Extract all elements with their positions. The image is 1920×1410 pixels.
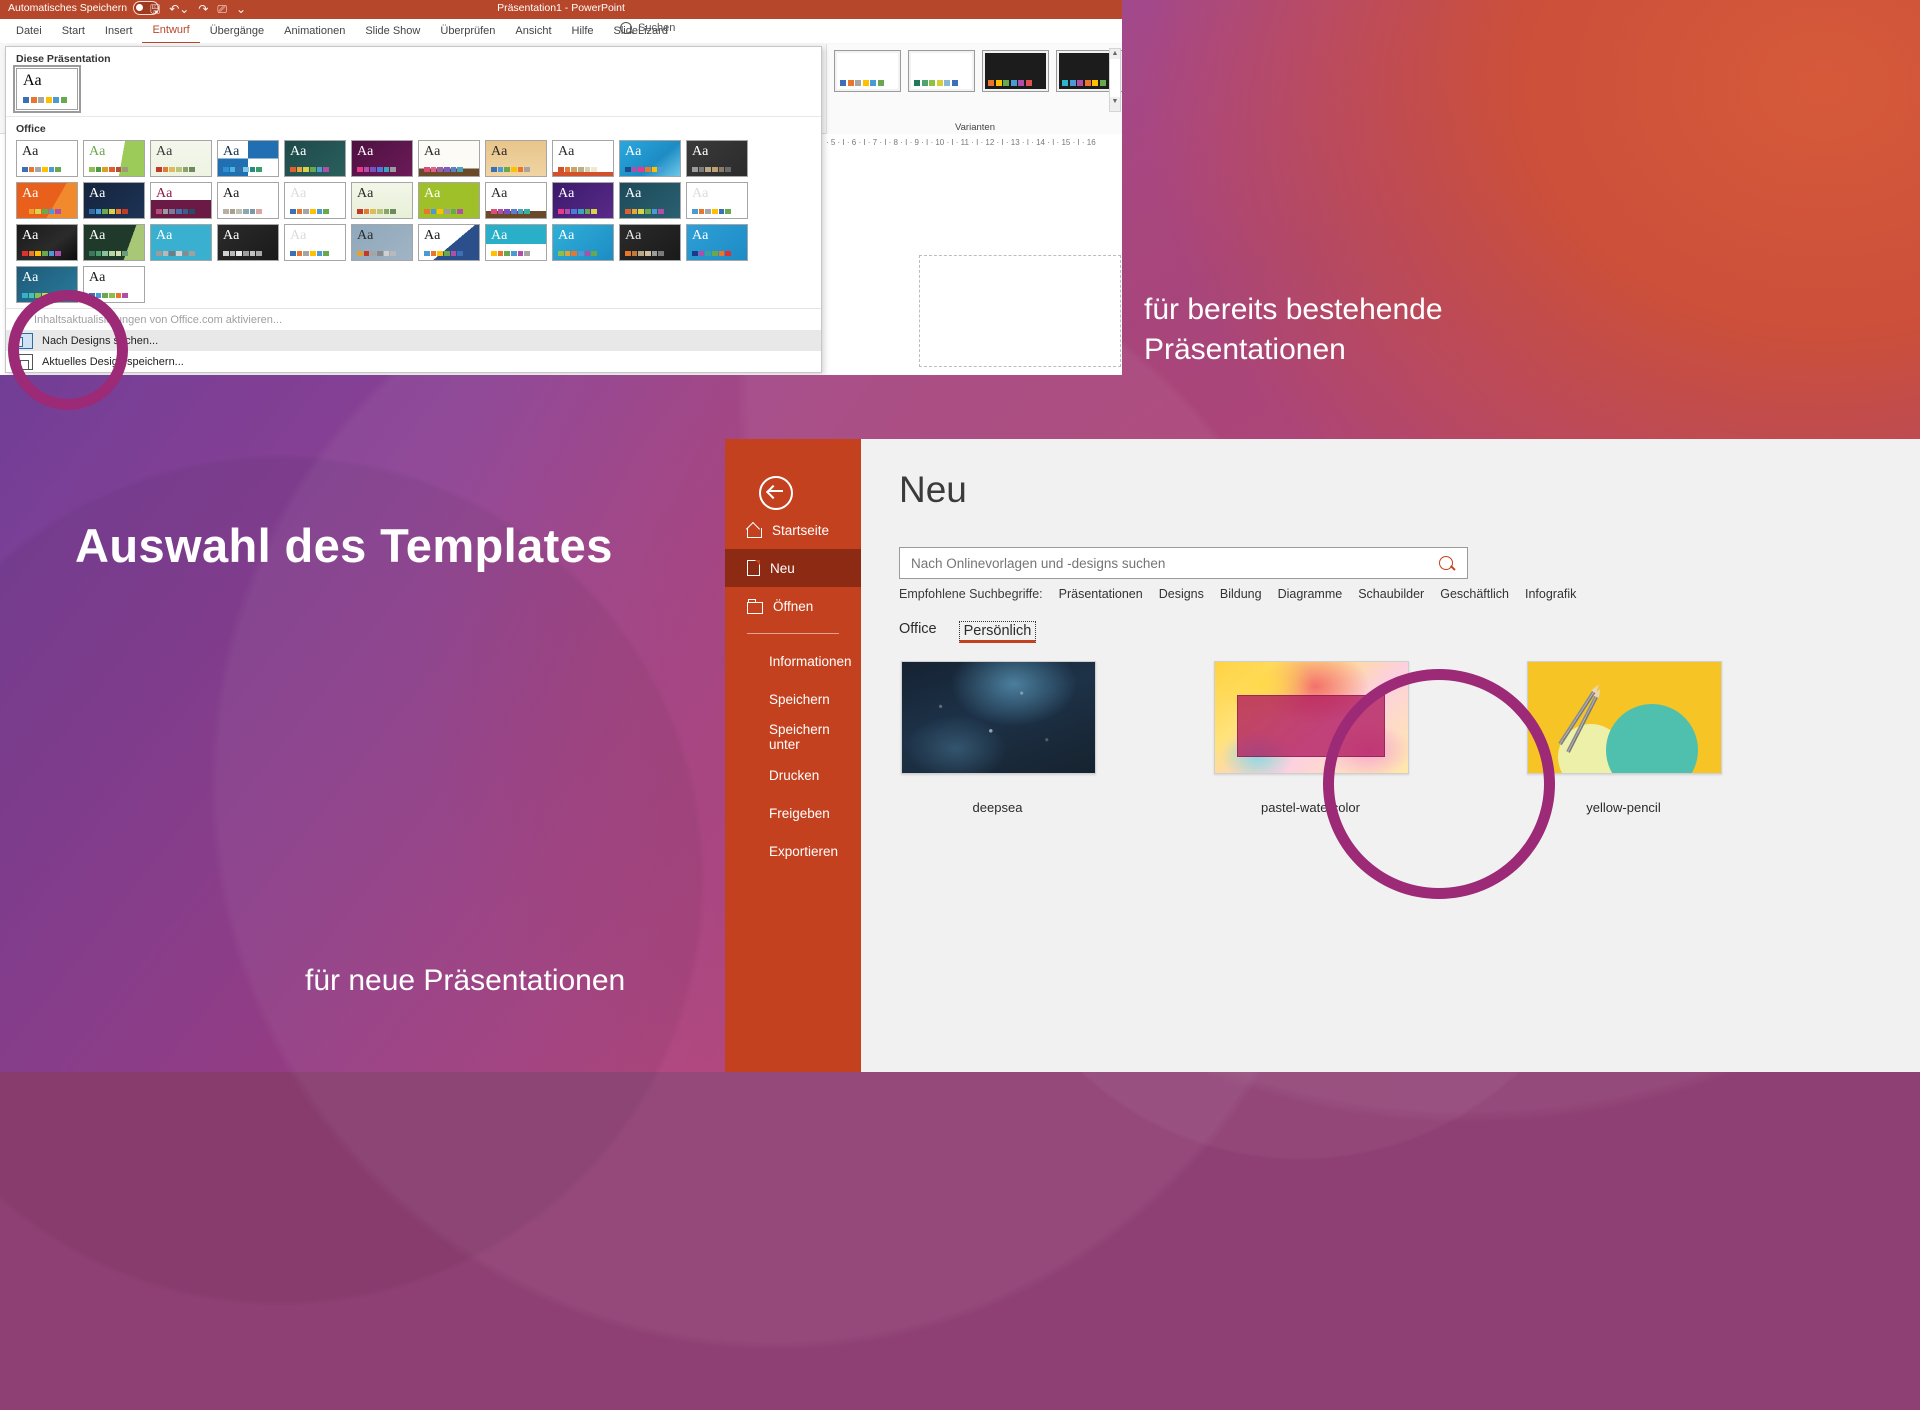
current-theme-thumbnail[interactable]: Aa (16, 68, 78, 110)
theme-aa-label: Aa (22, 143, 38, 161)
backstage-nav-speichern[interactable]: Speichern (725, 680, 861, 718)
theme-thumbnail[interactable]: Aa (686, 224, 748, 261)
current-theme-row: Aa (6, 68, 821, 116)
annotation-circle-browse-themes (8, 290, 128, 410)
theme-thumbnail[interactable]: Aa (418, 140, 480, 177)
ribbon-tab-insert[interactable]: Insert (95, 19, 143, 43)
theme-palette (23, 97, 67, 103)
theme-palette (558, 209, 597, 215)
variant-palette (914, 80, 958, 86)
theme-palette (156, 251, 195, 257)
theme-aa-label: Aa (491, 185, 507, 203)
page-title: Neu (899, 469, 967, 511)
ribbon-tab-datei[interactable]: Datei (6, 19, 52, 43)
theme-aa-label: Aa (357, 185, 373, 203)
backstage-nav-label: Speichern unter (769, 722, 861, 752)
theme-palette (625, 209, 664, 215)
theme-palette (223, 167, 262, 173)
theme-palette (558, 167, 597, 173)
variant-thumbnail[interactable] (908, 50, 975, 92)
theme-thumbnail[interactable]: Aa (83, 182, 145, 219)
design-menu-item-enable-content-updates: Inhaltsaktualisierungen von Office.com a… (6, 309, 821, 330)
theme-palette (89, 251, 128, 257)
theme-aa-label: Aa (424, 227, 440, 245)
backstage-nav-label: Startseite (772, 523, 829, 538)
backstage-navigation: StartseiteNeuÖffnenInformationenSpeicher… (725, 439, 861, 1072)
theme-palette (692, 167, 731, 173)
backstage-nav-drucken[interactable]: Drucken (725, 756, 861, 794)
open-folder-icon (747, 602, 763, 614)
scroll-up-arrow[interactable]: ▲ (1110, 49, 1120, 59)
backstage-nav-neu[interactable]: Neu (725, 549, 861, 587)
template-source-tab-personlich[interactable]: Persönlich (959, 621, 1037, 643)
back-arrow-icon[interactable] (759, 476, 793, 510)
ribbon-tab-bar: DateiStartInsertEntwurfÜbergängeAnimatio… (0, 19, 1122, 44)
theme-thumbnail[interactable]: Aa (217, 182, 279, 219)
theme-palette (692, 251, 731, 257)
backstage-new-panel: StartseiteNeuÖffnenInformationenSpeicher… (725, 439, 1920, 1072)
variants-label: Varianten (827, 122, 1122, 133)
theme-palette (223, 209, 262, 215)
variants-scrollbar[interactable]: ▲ ▼ (1109, 48, 1121, 112)
theme-thumbnail[interactable]: Aa (217, 140, 279, 177)
backstage-nav-label: Neu (770, 561, 795, 576)
theme-thumbnail[interactable]: Aa (619, 182, 681, 219)
design-gallery-dropdown[interactable]: Diese Präsentation Aa Office AaAaAaAaAaA… (5, 46, 822, 373)
theme-aa-label: Aa (223, 227, 239, 245)
ribbon-tab-überprüfen[interactable]: Überprüfen (430, 19, 505, 43)
template-thumbnail[interactable] (1527, 661, 1722, 774)
theme-aa-label: Aa (692, 185, 708, 203)
theme-aa-label: Aa (625, 227, 641, 245)
headline-title: Auswahl des Templates (75, 518, 613, 573)
theme-palette (290, 167, 329, 173)
theme-aa-label: Aa (357, 143, 373, 161)
theme-palette (223, 251, 262, 257)
content-placeholder[interactable] (919, 255, 1121, 367)
theme-thumbnail[interactable]: Aa (83, 224, 145, 261)
variant-palette (988, 80, 1032, 86)
theme-thumbnail[interactable]: Aa (552, 140, 614, 177)
theme-thumbnail[interactable]: Aa (284, 140, 346, 177)
theme-thumbnail[interactable]: Aa (418, 182, 480, 219)
window-title: Präsentation1 - PowerPoint (0, 2, 1122, 14)
backstage-nav-label: Informationen (769, 654, 852, 669)
office-theme-grid: AaAaAaAaAaAaAaAaAaAaAaAaAaAaAaAaAaAaAaAa… (6, 138, 811, 307)
theme-palette (424, 209, 463, 215)
theme-thumbnail[interactable]: Aa (485, 224, 547, 261)
caption-existing-presentations: für bereits bestehende Präsentationen (1144, 290, 1574, 370)
theme-palette (625, 251, 664, 257)
suggested-search-bildung[interactable]: Bildung (1220, 587, 1262, 601)
variants-row (827, 44, 1122, 92)
theme-aa-label: Aa (692, 227, 708, 245)
theme-aa-label: Aa (89, 185, 105, 203)
theme-aa-label: Aa (89, 143, 105, 161)
theme-aa-label: Aa (89, 227, 105, 245)
theme-thumbnail[interactable]: Aa (485, 140, 547, 177)
theme-aa-label: Aa (89, 269, 105, 287)
ribbon-search-label: Suchen (638, 22, 675, 34)
scroll-thumb[interactable] (1110, 59, 1120, 97)
home-icon (747, 523, 762, 538)
theme-palette (290, 251, 329, 257)
theme-aa-label: Aa (22, 185, 38, 203)
suggested-search-schaubilder[interactable]: Schaubilder (1358, 587, 1424, 601)
theme-aa-label: Aa (357, 227, 373, 245)
search-icon[interactable] (1439, 556, 1453, 570)
theme-thumbnail[interactable]: Aa (552, 224, 614, 261)
backstage-nav-freigeben[interactable]: Freigeben (725, 794, 861, 832)
theme-aa-label: Aa (558, 143, 574, 161)
backstage-nav-speichern-unter[interactable]: Speichern unter (725, 718, 861, 756)
backstage-nav-startseite[interactable]: Startseite (725, 511, 861, 549)
theme-palette (89, 167, 128, 173)
theme-thumbnail[interactable]: Aa (619, 140, 681, 177)
backstage-nav-label: Speichern (769, 692, 830, 707)
template-thumbnail[interactable] (901, 661, 1096, 774)
suggested-search-geschaftlich[interactable]: Geschäftlich (1440, 587, 1509, 601)
theme-palette (491, 251, 530, 257)
slide-sheet[interactable] (826, 150, 1122, 375)
theme-palette (156, 209, 195, 215)
theme-thumbnail[interactable]: Aa (485, 182, 547, 219)
theme-aa-label: Aa (156, 227, 172, 245)
ribbon-tab-start[interactable]: Start (52, 19, 95, 43)
theme-thumbnail[interactable]: Aa (351, 140, 413, 177)
theme-aa-label: Aa (625, 185, 641, 203)
theme-palette (625, 167, 664, 173)
template-search-input[interactable] (909, 555, 1433, 572)
theme-thumbnail[interactable]: Aa (16, 182, 78, 219)
template-card-yellow-pencil[interactable]: yellow-pencil (1527, 661, 1720, 815)
theme-thumbnail[interactable]: Aa (83, 140, 145, 177)
powerpoint-window: Automatisches Speichern 🖫 ↶⌄ ↷ ⎚ ⌄ Präse… (0, 0, 1122, 375)
theme-aa-label: Aa (625, 143, 641, 161)
theme-aa-label: Aa (223, 185, 239, 203)
ribbon-tab-hilfe[interactable]: Hilfe (562, 19, 604, 43)
template-name: deepsea (901, 800, 1094, 815)
suggested-search-designs[interactable]: Designs (1159, 587, 1204, 601)
theme-thumbnail[interactable]: Aa (351, 182, 413, 219)
theme-aa-label: Aa (558, 185, 574, 203)
theme-thumbnail[interactable]: Aa (686, 182, 748, 219)
theme-palette (22, 167, 61, 173)
theme-palette (357, 251, 396, 257)
backstage-nav-exportieren[interactable]: Exportieren (725, 832, 861, 870)
nav-divider (747, 633, 839, 634)
theme-thumbnail[interactable]: Aa (16, 140, 78, 177)
caption-new-presentations: für neue Präsentationen (305, 964, 625, 998)
design-gallery-footer: Inhaltsaktualisierungen von Office.com a… (6, 308, 821, 372)
ribbon-tab-ansicht[interactable]: Ansicht (505, 19, 561, 43)
backstage-nav-items: StartseiteNeuÖffnenInformationenSpeicher… (725, 511, 861, 870)
theme-palette (558, 251, 597, 257)
backstage-nav-label: Öffnen (773, 599, 813, 614)
theme-palette (491, 167, 530, 173)
theme-aa-label: Aa (558, 227, 574, 245)
backstage-nav-label: Exportieren (769, 844, 838, 859)
theme-palette (424, 251, 463, 257)
theme-aa-label: Aa (23, 72, 42, 90)
ribbon-tab-übergänge[interactable]: Übergänge (200, 19, 274, 43)
section-label-this-presentation: Diese Präsentation (6, 47, 821, 68)
theme-aa-label: Aa (491, 143, 507, 161)
template-list: deepseapastel-watercoloryellow-pencil (901, 661, 1720, 815)
variant-thumbnail[interactable] (982, 50, 1049, 92)
section-label-office: Office (6, 117, 821, 138)
theme-aa-label: Aa (156, 185, 172, 203)
suggested-search-prasentationen[interactable]: Präsentationen (1059, 587, 1143, 601)
theme-thumbnail[interactable]: Aa (284, 182, 346, 219)
theme-aa-label: Aa (692, 143, 708, 161)
new-document-icon (747, 560, 760, 576)
theme-aa-label: Aa (491, 227, 507, 245)
theme-thumbnail[interactable]: Aa (150, 224, 212, 261)
office-themes-section: Office AaAaAaAaAaAaAaAaAaAaAaAaAaAaAaAaA… (6, 116, 821, 307)
theme-palette (357, 167, 396, 173)
theme-thumbnail[interactable]: Aa (686, 140, 748, 177)
backstage-nav-label: Freigeben (769, 806, 830, 821)
theme-palette (692, 209, 731, 215)
theme-palette (290, 209, 329, 215)
theme-palette (424, 167, 463, 173)
theme-palette (491, 209, 530, 215)
annotation-circle-yellow-pencil (1323, 669, 1555, 899)
theme-palette (22, 209, 61, 215)
theme-aa-label: Aa (223, 143, 239, 161)
backstage-nav-offnen[interactable]: Öffnen (725, 587, 861, 625)
suggested-search-diagramme[interactable]: Diagramme (1278, 587, 1343, 601)
theme-aa-label: Aa (424, 143, 440, 161)
theme-thumbnail[interactable]: Aa (284, 224, 346, 261)
theme-thumbnail[interactable]: Aa (150, 182, 212, 219)
variants-pane: ▲ ▼ Varianten (826, 44, 1122, 134)
scroll-down-arrow[interactable]: ▼ (1110, 97, 1120, 107)
template-source-tabs: OfficePersönlich (899, 621, 1036, 643)
design-menu-item-save-theme[interactable]: Aktuelles Design speichern... (6, 351, 821, 372)
variant-thumbnail[interactable] (834, 50, 901, 92)
theme-palette (89, 209, 128, 215)
theme-thumbnail[interactable]: Aa (217, 224, 279, 261)
theme-thumbnail[interactable]: Aa (418, 224, 480, 261)
theme-thumbnail[interactable]: Aa (619, 224, 681, 261)
ribbon-search[interactable]: Suchen (620, 22, 675, 34)
ribbon-tab-entwurf[interactable]: Entwurf (142, 18, 199, 44)
template-search-box[interactable] (899, 547, 1468, 579)
suggested-search-infografik[interactable]: Infografik (1525, 587, 1576, 601)
suggested-searches-label: Empfohlene Suchbegriffe: (899, 587, 1043, 601)
theme-aa-label: Aa (290, 227, 306, 245)
slide-canvas-area (826, 150, 1122, 375)
theme-aa-label: Aa (22, 227, 38, 245)
theme-thumbnail[interactable]: Aa (16, 224, 78, 261)
theme-aa-label: Aa (290, 143, 306, 161)
backstage-nav-label: Drucken (769, 768, 819, 783)
variant-palette (1062, 80, 1106, 86)
suggested-searches: Empfohlene Suchbegriffe: PräsentationenD… (899, 587, 1576, 601)
variant-palette (840, 80, 884, 86)
ribbon-tab-slide-show[interactable]: Slide Show (355, 19, 430, 43)
title-bar: Automatisches Speichern 🖫 ↶⌄ ↷ ⎚ ⌄ Präse… (0, 0, 1122, 19)
ribbon-tabs: DateiStartInsertEntwurfÜbergängeAnimatio… (0, 19, 1122, 43)
template-source-tab-office[interactable]: Office (899, 621, 937, 637)
template-name: yellow-pencil (1527, 800, 1720, 815)
theme-thumbnail[interactable]: Aa (150, 140, 212, 177)
search-icon (620, 22, 632, 34)
theme-palette (22, 251, 61, 257)
decor-circle-teal (1606, 704, 1698, 774)
theme-aa-label: Aa (424, 185, 440, 203)
theme-aa-label: Aa (156, 143, 172, 161)
template-card-deepsea[interactable]: deepsea (901, 661, 1094, 815)
theme-palette (357, 209, 396, 215)
design-menu-item-browse-themes[interactable]: Nach Designs suchen... (6, 330, 821, 351)
ribbon-tab-animationen[interactable]: Animationen (274, 19, 355, 43)
theme-thumbnail[interactable]: Aa (552, 182, 614, 219)
theme-thumbnail[interactable]: Aa (351, 224, 413, 261)
theme-palette (156, 167, 195, 173)
backstage-nav-informationen[interactable]: Informationen (725, 642, 861, 680)
theme-aa-label: Aa (22, 269, 38, 287)
theme-aa-label: Aa (290, 185, 306, 203)
